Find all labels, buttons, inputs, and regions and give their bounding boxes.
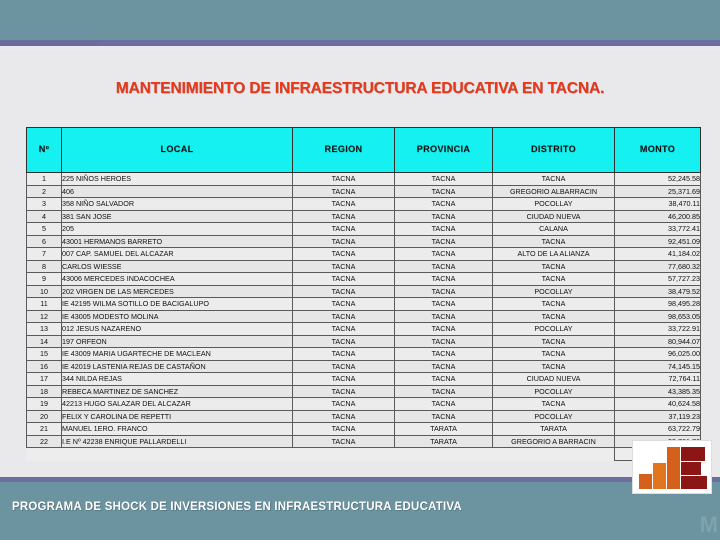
cell-numero: 3 bbox=[27, 198, 62, 211]
cell-distrito: TACNA bbox=[493, 335, 615, 348]
cell-provincia: TACNA bbox=[395, 360, 493, 373]
table-row: 18REBECA MARTINEZ DE SANCHEZTACNATACNAPO… bbox=[27, 385, 701, 398]
cell-region: TACNA bbox=[293, 285, 395, 298]
cell-local: 358 NIÑO SALVADOR bbox=[62, 198, 293, 211]
cell-numero: 5 bbox=[27, 223, 62, 236]
cell-monto: 72,764.11 bbox=[615, 373, 701, 386]
table-row: 15IE 43009 MARIA UGARTECHE DE MACLEANTAC… bbox=[27, 348, 701, 361]
table-row: 21MANUEL 1ERO. FRANCOTACNATARATATARATA63… bbox=[27, 423, 701, 436]
cell-region: TACNA bbox=[293, 223, 395, 236]
cell-local: 43006 MERCEDES INDACOCHEA bbox=[62, 273, 293, 286]
cell-local: 202 VIRGEN DE LAS MERCEDES bbox=[62, 285, 293, 298]
cell-numero: 10 bbox=[27, 285, 62, 298]
cell-region: TACNA bbox=[293, 398, 395, 411]
cell-numero: 17 bbox=[27, 373, 62, 386]
cell-distrito: TACNA bbox=[493, 360, 615, 373]
cell-distrito: TACNA bbox=[493, 260, 615, 273]
brick-stack-icon bbox=[633, 441, 711, 493]
cell-monto: 40,624.58 bbox=[615, 398, 701, 411]
table-row: 643001 HERMANOS BARRETOTACNATACNATACNA92… bbox=[27, 235, 701, 248]
cell-monto: 33,772.41 bbox=[615, 223, 701, 236]
cell-distrito: POCOLLAY bbox=[493, 385, 615, 398]
cell-monto: 77,680.32 bbox=[615, 260, 701, 273]
cell-provincia: TACNA bbox=[395, 248, 493, 261]
cell-region: TACNA bbox=[293, 248, 395, 261]
cell-numero: 16 bbox=[27, 360, 62, 373]
cell-region: TACNA bbox=[293, 335, 395, 348]
cell-local: I.E Nº 42238 ENRIQUE PALLARDELLI bbox=[62, 435, 293, 448]
cell-numero: 19 bbox=[27, 398, 62, 411]
cell-monto: 92,451.09 bbox=[615, 235, 701, 248]
cell-numero: 7 bbox=[27, 248, 62, 261]
cell-local: CARLOS WIESSE bbox=[62, 260, 293, 273]
cell-region: TACNA bbox=[293, 185, 395, 198]
cell-provincia: TACNA bbox=[395, 260, 493, 273]
cell-region: TACNA bbox=[293, 423, 395, 436]
cell-distrito: CIUDAD NUEVA bbox=[493, 210, 615, 223]
cell-local: REBECA MARTINEZ DE SANCHEZ bbox=[62, 385, 293, 398]
cell-distrito: POCOLLAY bbox=[493, 410, 615, 423]
cell-local: 381 SAN JOSE bbox=[62, 210, 293, 223]
cell-provincia: TACNA bbox=[395, 210, 493, 223]
cell-distrito: TACNA bbox=[493, 348, 615, 361]
cell-numero: 8 bbox=[27, 260, 62, 273]
cell-provincia: TACNA bbox=[395, 335, 493, 348]
cell-monto: 98,653.05 bbox=[615, 310, 701, 323]
cell-region: TACNA bbox=[293, 260, 395, 273]
cell-region: TACNA bbox=[293, 173, 395, 186]
table-row: 22I.E Nº 42238 ENRIQUE PALLARDELLITACNAT… bbox=[27, 435, 701, 448]
cell-numero: 21 bbox=[27, 423, 62, 436]
table-row: 943006 MERCEDES INDACOCHEATACNATACNATACN… bbox=[27, 273, 701, 286]
cell-monto: 38,479.52 bbox=[615, 285, 701, 298]
table-total-row: 1,406,102.68 bbox=[27, 448, 701, 461]
table-row: 3358 NIÑO SALVADORTACNATACNAPOCOLLAY38,4… bbox=[27, 198, 701, 211]
cell-provincia: TACNA bbox=[395, 273, 493, 286]
footer-title: PROGRAMA DE SHOCK DE INVERSIONES EN INFR… bbox=[12, 501, 462, 513]
cell-distrito: TARATA bbox=[493, 423, 615, 436]
cell-region: TACNA bbox=[293, 198, 395, 211]
top-banner-band bbox=[0, 0, 720, 40]
cell-region: TACNA bbox=[293, 235, 395, 248]
table-header-row: Nº LOCAL REGION PROVINCIA DISTRITO MONTO bbox=[27, 128, 701, 173]
cell-provincia: TACNA bbox=[395, 235, 493, 248]
table-row: 1942213 HUGO SALAZAR DEL ALCAZARTACNATAC… bbox=[27, 398, 701, 411]
cell-numero: 9 bbox=[27, 273, 62, 286]
cell-numero: 14 bbox=[27, 335, 62, 348]
table-header: Nº LOCAL REGION PROVINCIA DISTRITO MONTO bbox=[27, 128, 701, 173]
cell-region: TACNA bbox=[293, 323, 395, 336]
cell-distrito: GREGORIO A BARRACIN bbox=[493, 435, 615, 448]
cell-region: TACNA bbox=[293, 310, 395, 323]
cell-provincia: TACNA bbox=[395, 223, 493, 236]
cell-monto: 43,385.35 bbox=[615, 385, 701, 398]
total-spacer-cell bbox=[395, 448, 493, 461]
table-row: 13012 JESUS NAZARENOTACNATACNAPOCOLLAY33… bbox=[27, 323, 701, 336]
table-row: 16IE 42019 LASTENIA REJAS DE CASTAÑONTAC… bbox=[27, 360, 701, 373]
cell-numero: 6 bbox=[27, 235, 62, 248]
cell-distrito: POCOLLAY bbox=[493, 323, 615, 336]
cell-region: TACNA bbox=[293, 385, 395, 398]
column-header-monto: MONTO bbox=[615, 128, 701, 173]
total-spacer-cell bbox=[62, 448, 293, 461]
cell-provincia: TACNA bbox=[395, 348, 493, 361]
total-spacer-cell bbox=[493, 448, 615, 461]
investments-table: Nº LOCAL REGION PROVINCIA DISTRITO MONTO… bbox=[26, 127, 701, 461]
cell-local: IE 43009 MARIA UGARTECHE DE MACLEAN bbox=[62, 348, 293, 361]
cell-distrito: TACNA bbox=[493, 298, 615, 311]
cell-distrito: ALTO DE LA ALIANZA bbox=[493, 248, 615, 261]
total-spacer-cell bbox=[293, 448, 395, 461]
table-row: 20FELIX Y CAROLINA DE REPETTITACNATACNAP… bbox=[27, 410, 701, 423]
table-row: 11IE 42195 WILMA SOTILLO DE BACIGALUPOTA… bbox=[27, 298, 701, 311]
cell-provincia: TARATA bbox=[395, 435, 493, 448]
column-header-provincia: PROVINCIA bbox=[395, 128, 493, 173]
cell-numero: 2 bbox=[27, 185, 62, 198]
cell-region: TACNA bbox=[293, 273, 395, 286]
cell-numero: 13 bbox=[27, 323, 62, 336]
cell-distrito: TACNA bbox=[493, 310, 615, 323]
cell-distrito: TACNA bbox=[493, 398, 615, 411]
cell-monto: 57,727.23 bbox=[615, 273, 701, 286]
cell-region: TACNA bbox=[293, 360, 395, 373]
cell-monto: 46,200.85 bbox=[615, 210, 701, 223]
top-white-strip bbox=[0, 46, 720, 50]
cell-local: 42213 HUGO SALAZAR DEL ALCAZAR bbox=[62, 398, 293, 411]
cell-distrito: CIUDAD NUEVA bbox=[493, 373, 615, 386]
table-row: 10202 VIRGEN DE LAS MERCEDESTACNATACNAPO… bbox=[27, 285, 701, 298]
cell-monto: 98,495.28 bbox=[615, 298, 701, 311]
page-title: MANTENIMIENTO DE INFRAESTRUCTURA EDUCATI… bbox=[0, 80, 720, 98]
cell-provincia: TACNA bbox=[395, 298, 493, 311]
cell-provincia: TACNA bbox=[395, 185, 493, 198]
cell-local: 225 NIÑOS HEROES bbox=[62, 173, 293, 186]
cell-distrito: POCOLLAY bbox=[493, 285, 615, 298]
column-header-local: LOCAL bbox=[62, 128, 293, 173]
cell-distrito: POCOLLAY bbox=[493, 198, 615, 211]
cell-local: 197 ORFEON bbox=[62, 335, 293, 348]
cell-region: TACNA bbox=[293, 348, 395, 361]
cell-numero: 22 bbox=[27, 435, 62, 448]
cell-local: IE 43005 MODESTO MOLINA bbox=[62, 310, 293, 323]
cell-local: MANUEL 1ERO. FRANCO bbox=[62, 423, 293, 436]
cell-distrito: CALANA bbox=[493, 223, 615, 236]
cell-monto: 41,184.02 bbox=[615, 248, 701, 261]
table-row: 8CARLOS WIESSETACNATACNATACNA77,680.32 bbox=[27, 260, 701, 273]
cell-local: IE 42195 WILMA SOTILLO DE BACIGALUPO bbox=[62, 298, 293, 311]
table-row: 17344 NILDA REJASTACNATACNACIUDAD NUEVA7… bbox=[27, 373, 701, 386]
table-row: 4381 SAN JOSETACNATACNACIUDAD NUEVA46,20… bbox=[27, 210, 701, 223]
cell-region: TACNA bbox=[293, 435, 395, 448]
cell-provincia: TACNA bbox=[395, 398, 493, 411]
cell-provincia: TACNA bbox=[395, 285, 493, 298]
cell-distrito: TACNA bbox=[493, 273, 615, 286]
cell-numero: 20 bbox=[27, 410, 62, 423]
cell-distrito: TACNA bbox=[493, 235, 615, 248]
program-logo bbox=[632, 440, 712, 494]
cell-local: 406 bbox=[62, 185, 293, 198]
table-body: 1225 NIÑOS HEROESTACNATACNATACNA52,245.5… bbox=[27, 173, 701, 461]
cell-monto: 25,371.69 bbox=[615, 185, 701, 198]
cell-monto: 37,119.23 bbox=[615, 410, 701, 423]
table-row: 12IE 43005 MODESTO MOLINATACNATACNATACNA… bbox=[27, 310, 701, 323]
cell-local: 012 JESUS NAZARENO bbox=[62, 323, 293, 336]
cell-region: TACNA bbox=[293, 373, 395, 386]
column-header-numero: Nº bbox=[27, 128, 62, 173]
cell-region: TACNA bbox=[293, 410, 395, 423]
cell-monto: 63,722.79 bbox=[615, 423, 701, 436]
table-row: 7007 CAP. SAMUEL DEL ALCAZARTACNATACNAAL… bbox=[27, 248, 701, 261]
cell-numero: 11 bbox=[27, 298, 62, 311]
cell-distrito: GREGORIO ALBARRACIN bbox=[493, 185, 615, 198]
cell-provincia: TACNA bbox=[395, 310, 493, 323]
cell-numero: 12 bbox=[27, 310, 62, 323]
cell-numero: 15 bbox=[27, 348, 62, 361]
cell-distrito: TACNA bbox=[493, 173, 615, 186]
cell-local: 344 NILDA REJAS bbox=[62, 373, 293, 386]
total-spacer-cell bbox=[27, 448, 62, 461]
data-table-container: Nº LOCAL REGION PROVINCIA DISTRITO MONTO… bbox=[26, 127, 694, 461]
cell-provincia: TACNA bbox=[395, 323, 493, 336]
cell-monto: 38,470.11 bbox=[615, 198, 701, 211]
footer-watermark-letter: M bbox=[700, 512, 718, 538]
cell-provincia: TARATA bbox=[395, 423, 493, 436]
table-row: 2406TACNATACNAGREGORIO ALBARRACIN25,371.… bbox=[27, 185, 701, 198]
cell-numero: 1 bbox=[27, 173, 62, 186]
cell-provincia: TACNA bbox=[395, 198, 493, 211]
cell-local: 43001 HERMANOS BARRETO bbox=[62, 235, 293, 248]
cell-monto: 74,145.15 bbox=[615, 360, 701, 373]
slide-canvas: MANTENIMIENTO DE INFRAESTRUCTURA EDUCATI… bbox=[0, 0, 720, 540]
column-header-distrito: DISTRITO bbox=[493, 128, 615, 173]
table-row: 14197 ORFEONTACNATACNATACNA80,944.07 bbox=[27, 335, 701, 348]
cell-provincia: TACNA bbox=[395, 173, 493, 186]
cell-local: FELIX Y CAROLINA DE REPETTI bbox=[62, 410, 293, 423]
cell-provincia: TACNA bbox=[395, 385, 493, 398]
cell-local: IE 42019 LASTENIA REJAS DE CASTAÑON bbox=[62, 360, 293, 373]
cell-monto: 33,722.91 bbox=[615, 323, 701, 336]
column-header-region: REGION bbox=[293, 128, 395, 173]
cell-provincia: TACNA bbox=[395, 410, 493, 423]
table-row: 1225 NIÑOS HEROESTACNATACNATACNA52,245.5… bbox=[27, 173, 701, 186]
cell-numero: 4 bbox=[27, 210, 62, 223]
cell-region: TACNA bbox=[293, 298, 395, 311]
table-row: 5205TACNATACNACALANA33,772.41 bbox=[27, 223, 701, 236]
cell-provincia: TACNA bbox=[395, 373, 493, 386]
cell-local: 007 CAP. SAMUEL DEL ALCAZAR bbox=[62, 248, 293, 261]
cell-region: TACNA bbox=[293, 210, 395, 223]
cell-local: 205 bbox=[62, 223, 293, 236]
cell-numero: 18 bbox=[27, 385, 62, 398]
cell-monto: 96,025.00 bbox=[615, 348, 701, 361]
cell-monto: 80,944.07 bbox=[615, 335, 701, 348]
cell-monto: 52,245.58 bbox=[615, 173, 701, 186]
